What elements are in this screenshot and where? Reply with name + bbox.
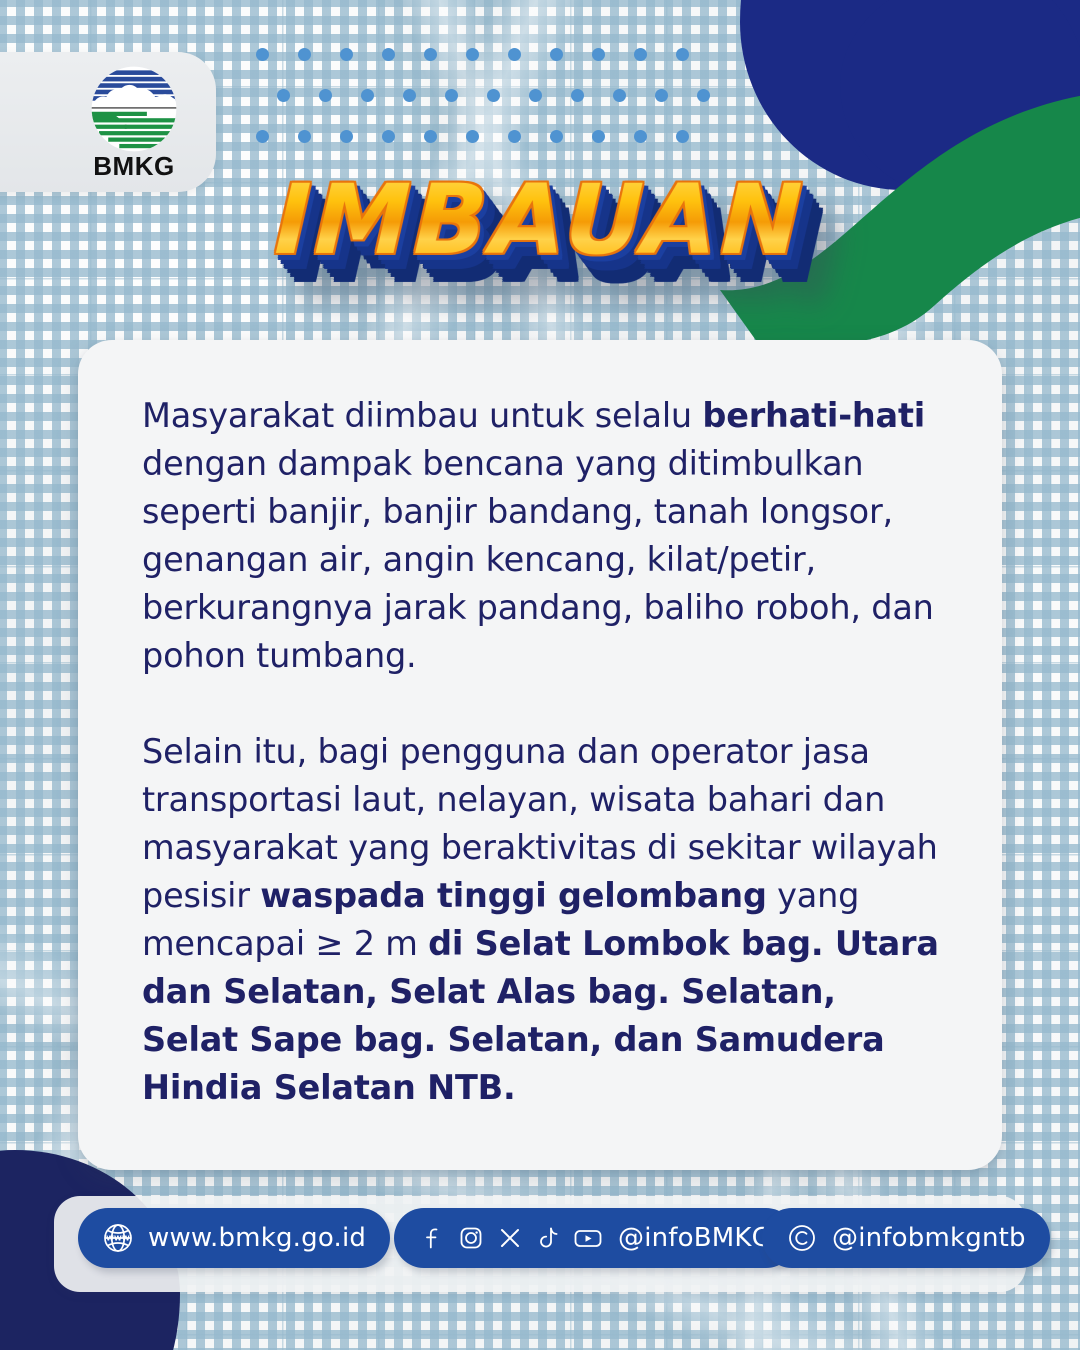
decorative-dot	[529, 89, 542, 102]
globe-www-icon: WWW	[102, 1222, 134, 1254]
decorative-dot	[382, 48, 395, 61]
paragraph-1: Masyarakat diimbau untuk selalu berhati-…	[142, 396, 934, 675]
decorative-dot	[382, 130, 395, 143]
regional-handle-pill[interactable]: @infobmkgntb	[762, 1208, 1050, 1268]
decorative-dot	[466, 130, 479, 143]
decorative-dot	[571, 89, 584, 102]
decorative-dot	[319, 89, 332, 102]
decorative-dot	[256, 48, 269, 61]
decorative-dot	[298, 48, 311, 61]
website-pill[interactable]: WWW www.bmkg.go.id	[78, 1208, 390, 1268]
content-card: Masyarakat diimbau untuk selalu berhati-…	[78, 340, 1002, 1170]
decorative-dot	[424, 48, 437, 61]
tiktok-icon[interactable]	[535, 1224, 561, 1252]
emphasis-text: berhati-hati	[702, 396, 925, 435]
x-twitter-icon[interactable]	[496, 1224, 524, 1252]
dot-pattern-decoration	[256, 48, 736, 144]
poster-canvas: BMKG IMBAUAN Masyarakat diimbau untuk se…	[0, 0, 1080, 1350]
decorative-dot	[277, 89, 290, 102]
instagram-icon[interactable]	[457, 1224, 485, 1252]
decorative-dot	[550, 130, 563, 143]
regional-handle-label: @infobmkgntb	[832, 1223, 1026, 1253]
title-imbauan: IMBAUAN	[273, 172, 807, 268]
decorative-dot	[508, 130, 521, 143]
decorative-dot	[361, 89, 374, 102]
decorative-dot	[256, 130, 269, 143]
facebook-icon[interactable]	[418, 1224, 446, 1252]
decorative-dot	[340, 48, 353, 61]
decorative-dot	[466, 48, 479, 61]
decorative-dot	[613, 89, 626, 102]
decorative-dot	[424, 130, 437, 143]
plain-text: dengan dampak bencana yang ditimbulkan s…	[142, 444, 934, 675]
social-pill[interactable]: @infoBMKG	[394, 1208, 796, 1268]
decorative-dot	[403, 89, 416, 102]
website-label: www.bmkg.go.id	[148, 1223, 366, 1253]
circle-c-icon	[786, 1222, 818, 1254]
decorative-dot	[655, 89, 668, 102]
emphasis-text: waspada tinggi gelombang	[260, 876, 767, 915]
decorative-dot	[487, 89, 500, 102]
decorative-dot	[697, 89, 710, 102]
bmkg-logo-icon	[88, 63, 180, 155]
decorative-dot	[445, 89, 458, 102]
decorative-dot	[508, 48, 521, 61]
decorative-dot	[298, 130, 311, 143]
bmkg-logo-badge: BMKG	[0, 52, 216, 192]
decorative-dot	[676, 48, 689, 61]
decorative-dot	[592, 130, 605, 143]
social-handle-label: @infoBMKG	[618, 1223, 772, 1253]
decorative-dot	[550, 48, 563, 61]
svg-text:WWW: WWW	[106, 1234, 130, 1242]
plain-text: Masyarakat diimbau untuk selalu	[142, 396, 702, 435]
decorative-dot	[676, 130, 689, 143]
poster-title: IMBAUAN	[0, 172, 1080, 268]
decorative-dot	[340, 130, 353, 143]
decorative-dot	[592, 48, 605, 61]
decorative-dot	[634, 130, 647, 143]
youtube-icon[interactable]	[572, 1224, 604, 1252]
advisory-body-text: Masyarakat diimbau untuk selalu berhati-…	[142, 392, 942, 1112]
decorative-dot	[634, 48, 647, 61]
paragraph-2: Selain itu, bagi pengguna dan operator j…	[142, 728, 942, 1112]
